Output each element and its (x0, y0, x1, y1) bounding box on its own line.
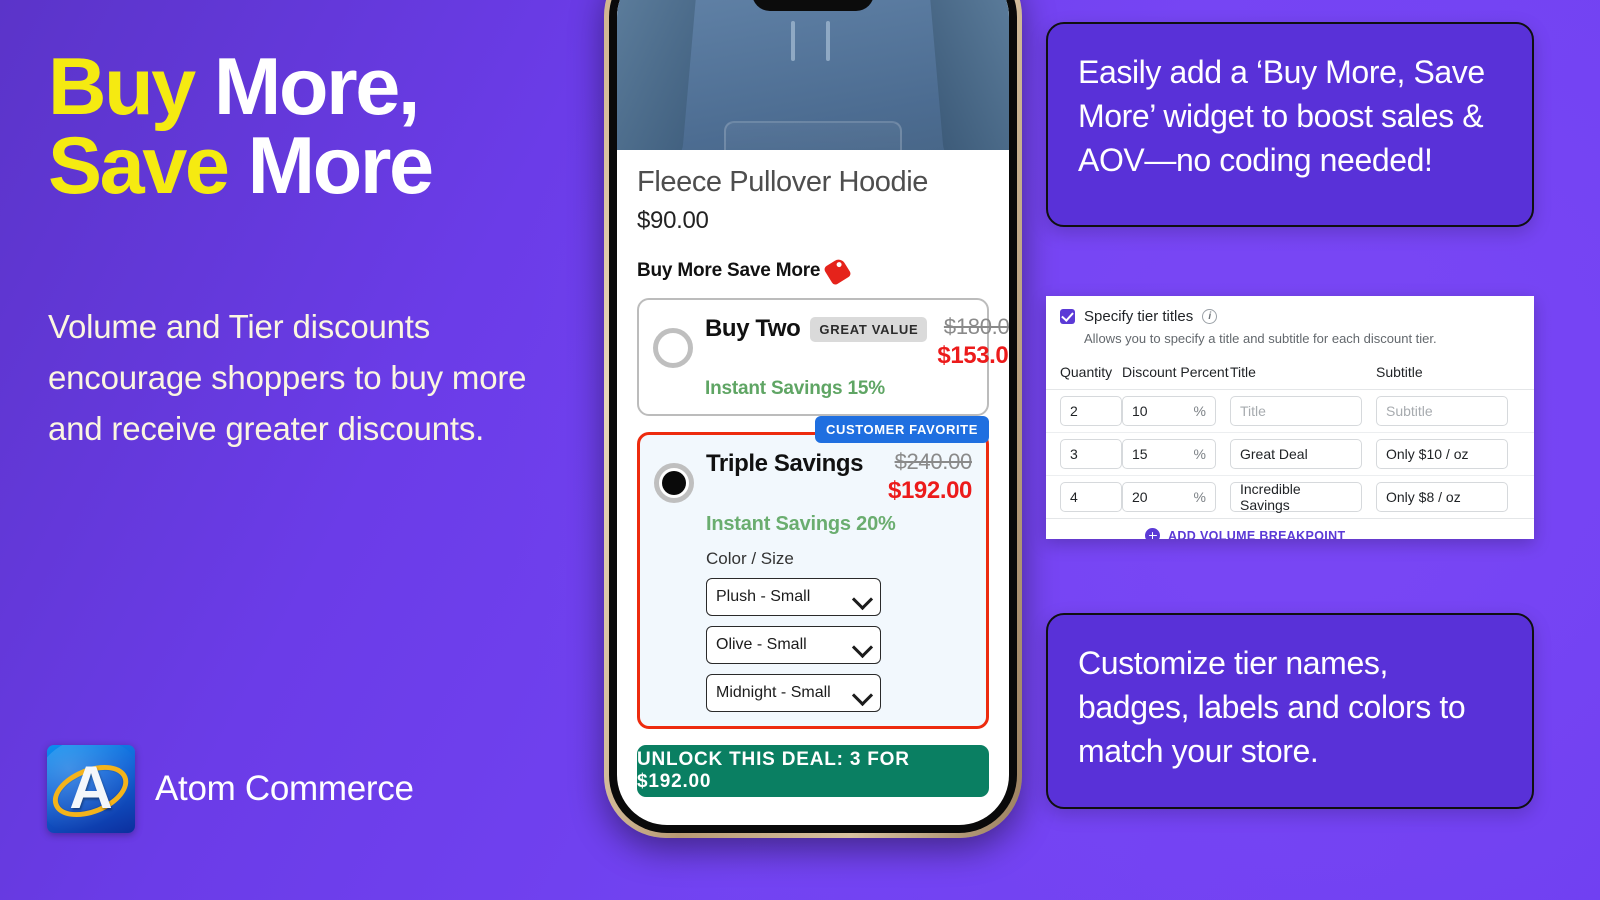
tier-old-price: $240.00 (888, 449, 972, 475)
table-header-row: Quantity Discount Percent Title Subtitle (1046, 356, 1534, 390)
add-volume-breakpoint-label: ADD VOLUME BREAKPOINT (1168, 529, 1346, 540)
atom-commerce-logo-icon: A (47, 745, 135, 833)
subtitle-input[interactable]: Only $8 / oz (1376, 482, 1508, 512)
tier-prices: $240.00 $192.00 (888, 449, 972, 505)
quantity-input[interactable]: 3 (1060, 439, 1122, 469)
left-hero-panel: Buy More, Save More Volume and Tier disc… (0, 0, 600, 900)
tier-option-buy-two[interactable]: Buy Two GREAT VALUE $180.00 $153.00 Inst… (637, 298, 989, 416)
tier-name: Buy Two (705, 314, 800, 344)
info-icon[interactable]: i (1202, 309, 1217, 324)
brand-name: Atom Commerce (155, 769, 414, 809)
drawstring-right (826, 21, 830, 61)
variant-select-2[interactable]: Olive - Small (706, 626, 881, 664)
headline-highlight-1: Buy (48, 42, 194, 132)
variant-select-1[interactable]: Plush - Small (706, 578, 881, 616)
unlock-deal-button[interactable]: UNLOCK THIS DEAL: 3 FOR $192.00 (637, 745, 989, 797)
callout-card-top: Easily add a ‘Buy More, Save More’ widge… (1046, 22, 1534, 227)
tier-radio-selected[interactable] (654, 463, 694, 503)
discount-input[interactable]: 15% (1122, 439, 1216, 469)
tier-name: Triple Savings (706, 449, 863, 479)
discount-value: 15 (1132, 446, 1148, 462)
tier-old-price: $180.00 (937, 314, 1009, 340)
drawstring-left (791, 21, 795, 61)
tier-radio-unselected[interactable] (653, 328, 693, 368)
specify-tier-titles-row[interactable]: Specify tier titles i (1060, 308, 1520, 325)
col-header-title: Title (1230, 356, 1376, 390)
variant-select-3[interactable]: Midnight - Small (706, 674, 881, 712)
percent-suffix: % (1194, 489, 1206, 505)
table-row: 2 10% Title Subtitle (1046, 390, 1534, 433)
tier-savings: Instant Savings 20% (706, 513, 972, 536)
quantity-input[interactable]: 4 (1060, 482, 1122, 512)
variant-select-1-value: Plush - Small (716, 588, 810, 606)
hoodie-pocket (724, 121, 902, 150)
product-price: $90.00 (637, 207, 989, 235)
discount-value: 20 (1132, 489, 1148, 505)
tier-content: Triple Savings $240.00 $192.00 Instant S… (706, 449, 972, 712)
plus-circle-icon (1145, 528, 1160, 539)
title-input[interactable]: Incredible Savings (1230, 482, 1362, 512)
phone-bezel: Fleece Pullover Hoodie $90.00 Buy More S… (609, 0, 1017, 833)
checkbox-icon[interactable] (1060, 309, 1075, 324)
tier-option-triple-savings[interactable]: CUSTOMER FAVORITE Triple Savings $240.00… (637, 432, 989, 729)
col-header-discount: Discount Percent (1122, 356, 1230, 390)
col-header-quantity: Quantity (1046, 356, 1122, 390)
tier-prices: $180.00 $153.00 (937, 314, 1009, 370)
specify-tier-titles-label: Specify tier titles (1084, 308, 1193, 325)
tier-table: Quantity Discount Percent Title Subtitle… (1046, 356, 1534, 519)
callout-card-bottom: Customize tier names, badges, labels and… (1046, 613, 1534, 809)
quantity-input[interactable]: 2 (1060, 396, 1122, 426)
hoodie-graphic (648, 0, 978, 150)
discount-value: 10 (1132, 403, 1148, 419)
admin-help-text: Allows you to specify a title and subtit… (1084, 331, 1520, 346)
title-input[interactable]: Great Deal (1230, 439, 1362, 469)
tier-header-row: Buy Two GREAT VALUE $180.00 $153.00 (705, 314, 973, 370)
brand-lockup: A Atom Commerce (47, 745, 414, 833)
hero-subcopy: Volume and Tier discounts encourage shop… (48, 302, 578, 454)
subtitle-input[interactable]: Subtitle (1376, 396, 1508, 426)
variant-selectors: Plush - Small Olive - Small Midnight - S… (706, 578, 972, 712)
chevron-down-icon (853, 640, 871, 650)
admin-header: Specify tier titles i Allows you to spec… (1046, 296, 1534, 356)
discount-input[interactable]: 20% (1122, 482, 1216, 512)
title-input[interactable]: Title (1230, 396, 1362, 426)
phone-mockup: Fleece Pullover Hoodie $90.00 Buy More S… (604, 0, 1022, 838)
chevron-down-icon (853, 592, 871, 602)
variant-select-2-value: Olive - Small (716, 636, 807, 654)
percent-suffix: % (1194, 446, 1206, 462)
phone-screen: Fleece Pullover Hoodie $90.00 Buy More S… (617, 0, 1009, 825)
tier-badge: GREAT VALUE (810, 317, 927, 342)
widget-heading-text: Buy More Save More (637, 260, 820, 282)
product-title: Fleece Pullover Hoodie (637, 166, 989, 199)
headline-highlight-2: Save (48, 121, 228, 211)
admin-settings-panel: Specify tier titles i Allows you to spec… (1046, 296, 1534, 539)
widget-heading: Buy More Save More (637, 260, 989, 282)
subtitle-input[interactable]: Only $10 / oz (1376, 439, 1508, 469)
headline-rest-1: More, (194, 42, 418, 132)
tier-header-row: Triple Savings $240.00 $192.00 (706, 449, 972, 505)
chevron-down-icon (853, 688, 871, 698)
add-volume-breakpoint-button[interactable]: ADD VOLUME BREAKPOINT (1046, 519, 1534, 539)
variant-label: Color / Size (706, 549, 972, 569)
table-row: 4 20% Incredible Savings Only $8 / oz (1046, 476, 1534, 519)
col-header-subtitle: Subtitle (1376, 356, 1534, 390)
tier-new-price: $153.00 (937, 342, 1009, 370)
dynamic-island (752, 0, 874, 11)
page-title: Buy More, Save More (48, 48, 588, 207)
price-tag-icon (823, 257, 852, 286)
customer-favorite-ribbon: CUSTOMER FAVORITE (815, 416, 989, 443)
variant-select-3-value: Midnight - Small (716, 684, 831, 702)
product-image (617, 0, 1009, 150)
table-row: 3 15% Great Deal Only $10 / oz (1046, 433, 1534, 476)
tier-savings: Instant Savings 15% (705, 378, 973, 400)
product-detail-body: Fleece Pullover Hoodie $90.00 Buy More S… (617, 150, 1009, 797)
discount-input[interactable]: 10% (1122, 396, 1216, 426)
tier-content: Buy Two GREAT VALUE $180.00 $153.00 Inst… (705, 314, 973, 400)
percent-suffix: % (1194, 403, 1206, 419)
tier-new-price: $192.00 (888, 477, 972, 505)
headline-rest-2: More (228, 121, 432, 211)
logo-letter: A (47, 745, 135, 833)
